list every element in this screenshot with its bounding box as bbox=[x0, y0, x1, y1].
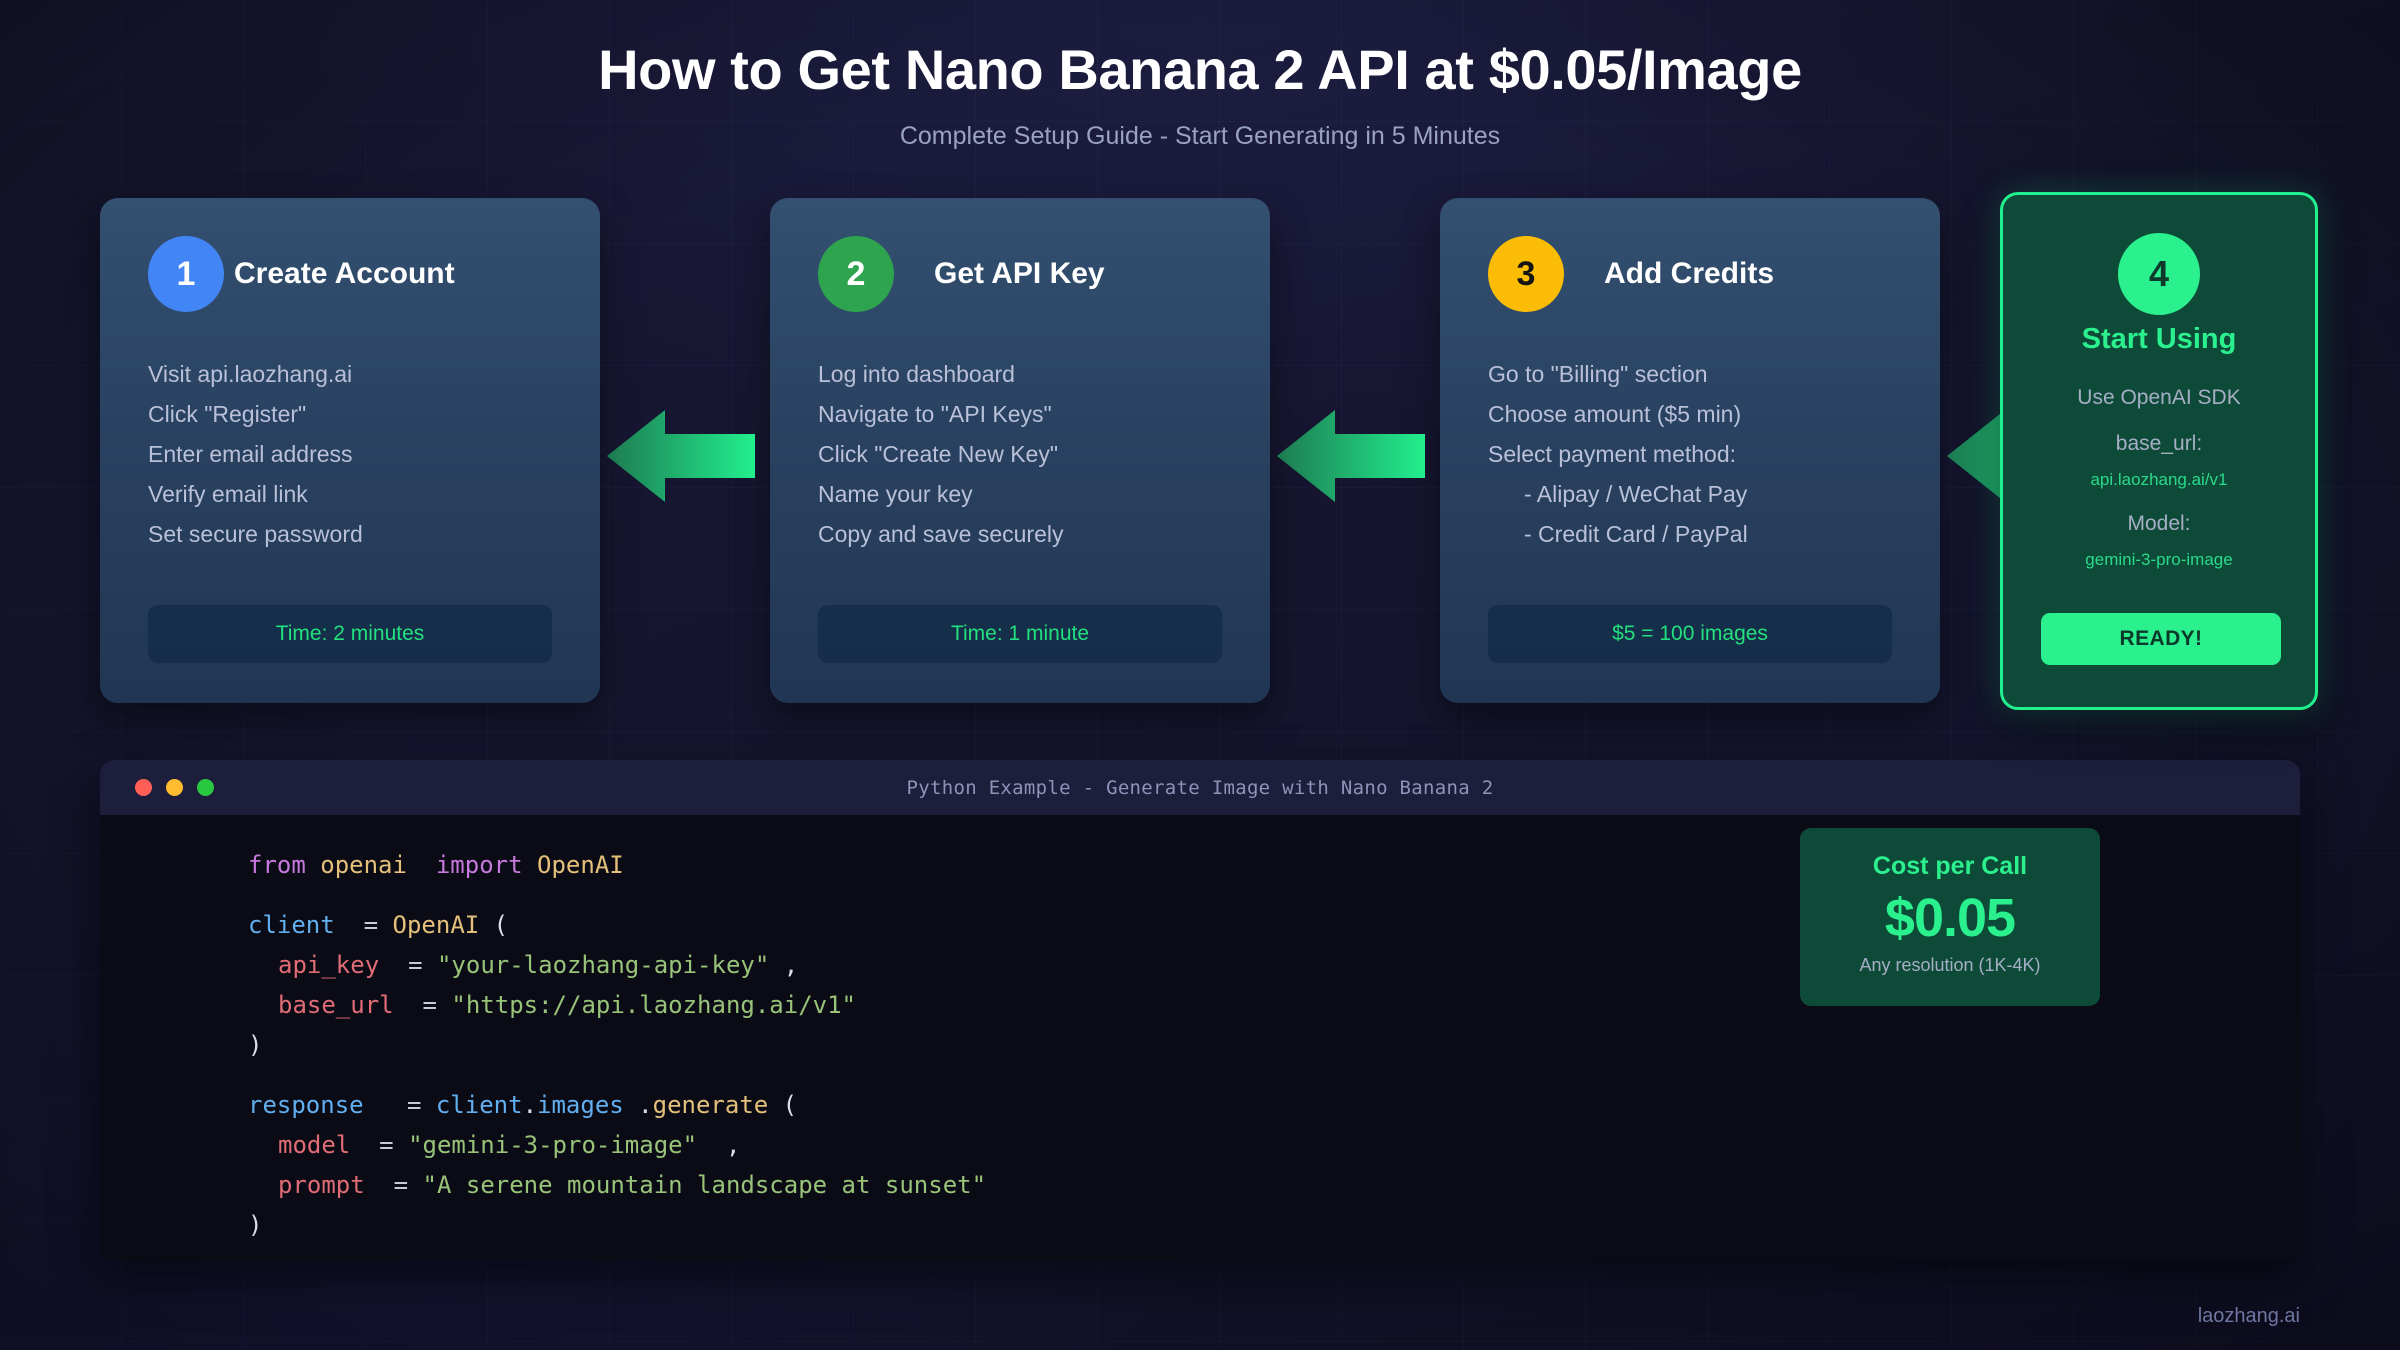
ready-button[interactable]: READY! bbox=[2041, 613, 2281, 665]
step-card-2[interactable]: 2 Get API Key Log into dashboard Navigat… bbox=[770, 198, 1270, 703]
code-token-generate: generate bbox=[653, 1091, 769, 1119]
page-subtitle: Complete Setup Guide - Start Generating … bbox=[0, 122, 2400, 151]
code-token-model-value: "gemini-3-pro-image" bbox=[408, 1131, 697, 1159]
code-line-8: prompt = "A serene mountain landscape at… bbox=[248, 1165, 2300, 1205]
list-item: Copy and save securely bbox=[818, 514, 1222, 554]
list-item: - Credit Card / PayPal bbox=[1488, 514, 1892, 554]
code-token-import: import bbox=[436, 851, 523, 879]
code-token-response: response bbox=[248, 1091, 364, 1119]
step-3-number-badge: 3 bbox=[1488, 236, 1564, 312]
step-card-4-start-using[interactable]: 4 Start Using Use OpenAI SDK base_url: a… bbox=[2000, 192, 2318, 710]
code-token-OpenAI: OpenAI bbox=[537, 851, 624, 879]
step-4-title: Start Using bbox=[2029, 323, 2289, 356]
list-item: Navigate to "API Keys" bbox=[818, 394, 1222, 434]
step-3-header: 3 Add Credits bbox=[1488, 236, 1892, 312]
code-token-open-paren: ( bbox=[494, 911, 508, 939]
step-1-title: Create Account bbox=[234, 257, 455, 291]
list-item: Enter email address bbox=[148, 434, 552, 474]
footer-brand: laozhang.ai bbox=[2198, 1305, 2300, 1328]
list-item: Name your key bbox=[818, 474, 1222, 514]
code-token-client: client bbox=[248, 911, 335, 939]
step-2-header: 2 Get API Key bbox=[818, 236, 1222, 312]
cost-note: Any resolution (1K-4K) bbox=[1800, 955, 2100, 976]
step-2-list: Log into dashboard Navigate to "API Keys… bbox=[818, 354, 1222, 554]
code-token-base-url: base_url bbox=[278, 991, 394, 1019]
code-token-api-key-value: "your-laozhang-api-key" bbox=[437, 951, 769, 979]
code-line-9: ) bbox=[248, 1205, 2300, 1245]
list-item: Verify email link bbox=[148, 474, 552, 514]
code-token-model: model bbox=[278, 1131, 350, 1159]
code-token-images: images bbox=[537, 1091, 624, 1119]
step-card-1[interactable]: 1 Create Account Visit api.laozhang.ai C… bbox=[100, 198, 600, 703]
model-value: gemini-3-pro-image bbox=[2029, 550, 2289, 570]
arrow-left-icon-2 bbox=[1277, 410, 1425, 502]
code-token-client-ref: client bbox=[436, 1091, 523, 1119]
code-token-equals: = bbox=[394, 1171, 408, 1199]
code-token-openai: openai bbox=[320, 851, 407, 879]
arrow-left-icon-1 bbox=[607, 410, 755, 502]
page-title: How to Get Nano Banana 2 API at $0.05/Im… bbox=[0, 37, 2400, 102]
step-3-list: Go to "Billing" section Choose amount ($… bbox=[1488, 354, 1892, 554]
code-token-close-paren: ) bbox=[248, 1211, 262, 1239]
model-label: Model: bbox=[2029, 512, 2289, 536]
code-token-prompt: prompt bbox=[278, 1171, 365, 1199]
cost-value: $0.05 bbox=[1800, 887, 2100, 949]
step-2-number-badge: 2 bbox=[818, 236, 894, 312]
code-token-base-url-value: "https://api.laozhang.ai/v1" bbox=[451, 991, 856, 1019]
code-token-comma: , bbox=[784, 951, 798, 979]
code-line-7: model = "gemini-3-pro-image" , bbox=[248, 1125, 2300, 1165]
code-token-equals: = bbox=[408, 951, 422, 979]
code-token-from: from bbox=[248, 851, 306, 879]
header: How to Get Nano Banana 2 API at $0.05/Im… bbox=[0, 0, 2400, 151]
base-url-value: api.laozhang.ai/v1 bbox=[2029, 470, 2289, 490]
list-item: Set secure password bbox=[148, 514, 552, 554]
base-url-label: base_url: bbox=[2029, 432, 2289, 456]
list-item: - Alipay / WeChat Pay bbox=[1488, 474, 1892, 514]
step-4-number-badge: 4 bbox=[2118, 233, 2200, 315]
code-panel-title: Python Example - Generate Image with Nan… bbox=[100, 777, 2300, 799]
code-token-api-key: api_key bbox=[278, 951, 379, 979]
list-item: Click "Create New Key" bbox=[818, 434, 1222, 474]
code-panel-titlebar: Python Example - Generate Image with Nan… bbox=[100, 760, 2300, 815]
list-item: Click "Register" bbox=[148, 394, 552, 434]
code-token-dot: . bbox=[638, 1091, 652, 1119]
code-token-close-paren: ) bbox=[248, 1031, 262, 1059]
cost-per-call-card: Cost per Call $0.05 Any resolution (1K-4… bbox=[1800, 828, 2100, 1006]
code-token-dot: . bbox=[523, 1091, 537, 1119]
step-1-time-badge: Time: 2 minutes bbox=[148, 605, 552, 663]
code-line-6: response = client.images .generate ( bbox=[248, 1085, 2300, 1125]
list-item: Go to "Billing" section bbox=[1488, 354, 1892, 394]
list-item: Choose amount ($5 min) bbox=[1488, 394, 1892, 434]
step-1-number-badge: 1 bbox=[148, 236, 224, 312]
code-token-equals: = bbox=[407, 1091, 421, 1119]
list-item: Log into dashboard bbox=[818, 354, 1222, 394]
list-item: Select payment method: bbox=[1488, 434, 1892, 474]
code-token-equals: = bbox=[423, 991, 437, 1019]
step-3-title: Add Credits bbox=[1604, 257, 1774, 291]
code-token-prompt-value: "A serene mountain landscape at sunset" bbox=[423, 1171, 987, 1199]
cost-label: Cost per Call bbox=[1800, 852, 2100, 881]
list-item: Visit api.laozhang.ai bbox=[148, 354, 552, 394]
step-card-3[interactable]: 3 Add Credits Go to "Billing" section Ch… bbox=[1440, 198, 1940, 703]
step-1-list: Visit api.laozhang.ai Click "Register" E… bbox=[148, 354, 552, 554]
step-2-time-badge: Time: 1 minute bbox=[818, 605, 1222, 663]
code-token-OpenAI-call: OpenAI bbox=[393, 911, 480, 939]
code-token-open-paren: ( bbox=[783, 1091, 797, 1119]
code-line-5: ) bbox=[248, 1025, 2300, 1065]
step-1-header: 1 Create Account bbox=[148, 236, 552, 312]
code-token-comma: , bbox=[726, 1131, 740, 1159]
code-token-equals: = bbox=[379, 1131, 393, 1159]
step-2-title: Get API Key bbox=[934, 257, 1105, 291]
step-3-credit-badge: $5 = 100 images bbox=[1488, 605, 1892, 663]
code-token-equals: = bbox=[364, 911, 378, 939]
sdk-label: Use OpenAI SDK bbox=[2029, 386, 2289, 410]
code-blank-line bbox=[248, 1065, 2300, 1085]
